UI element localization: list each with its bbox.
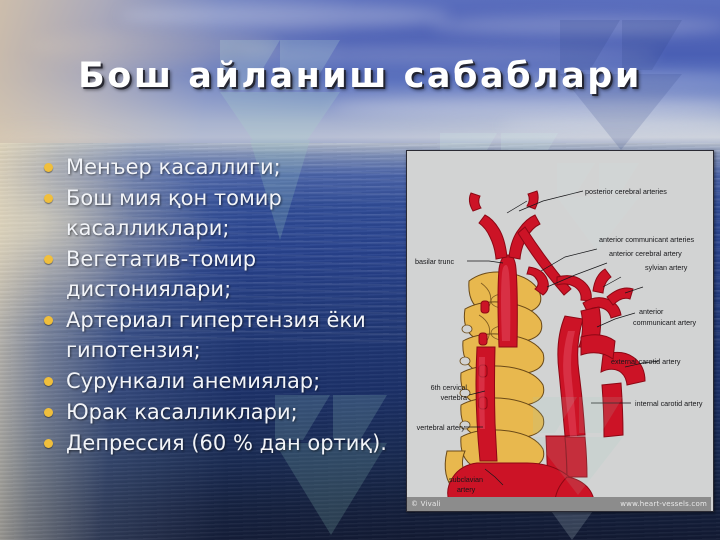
figure-label-artery: artery	[429, 485, 503, 494]
bullet-dot-icon	[44, 439, 53, 448]
bullet-list: Менъер касаллиги; Бош мия қон томир каса…	[38, 152, 390, 459]
list-item-label: Сурункали анемиялар;	[66, 366, 320, 396]
cerebral-artery-illustration	[407, 151, 711, 509]
cloud-band	[500, 118, 720, 132]
list-item: Депрессия (60 % дан ортиқ).	[38, 428, 390, 458]
figure-footer: © Vivali www.heart-vessels.com	[407, 497, 711, 511]
presentation-slide: Бош айланиш сабаблари Менъер касаллиги; …	[0, 0, 720, 540]
cloud-band	[330, 96, 720, 118]
figure-label-posterior-cerebral-arteries: posterior cerebral arteries	[585, 187, 667, 196]
cloud-band	[430, 16, 720, 36]
figure-label-subclavian: subclavian	[429, 475, 503, 484]
bullet-dot-icon	[44, 194, 53, 203]
bullet-dot-icon	[44, 316, 53, 325]
list-item: Артериал гипертензия ёки гипотензия;	[38, 305, 390, 365]
list-item-label: Депрессия (60 % дан ортиқ).	[66, 428, 387, 458]
figure-label-communicant-artery: communicant artery	[633, 318, 696, 327]
anatomy-figure: posterior cerebral arteries anterior com…	[406, 150, 714, 512]
figure-label-anterior: anterior	[639, 307, 663, 316]
figure-label-vertebra: vertebra	[407, 393, 467, 402]
figure-label-anterior-communicant-arteries: anterior communicant arteries	[599, 235, 694, 244]
bullet-dot-icon	[44, 377, 53, 386]
list-item-label: Юрак касалликлари;	[66, 397, 298, 427]
list-item: Вегетатив-томир дистониялари;	[38, 244, 390, 304]
figure-label-internal-carotid-artery: internal carotid artery	[635, 399, 703, 408]
figure-label-basilar-trunc: basilar trunc	[415, 257, 454, 266]
list-item-label: Бош мия қон томир касалликлари;	[66, 183, 390, 243]
figure-source-url: www.heart-vessels.com	[620, 500, 707, 508]
figure-label-anterior-cerebral-artery: anterior cerebral artery	[609, 249, 682, 258]
list-item: Бош мия қон томир касалликлари;	[38, 183, 390, 243]
figure-copyright: © Vivali	[411, 500, 441, 508]
figure-label-external-carotid-artery: external carotid artery	[611, 357, 681, 366]
bullet-dot-icon	[44, 408, 53, 417]
figure-label-6th-cervical: 6th cervical	[407, 383, 467, 392]
list-item-label: Артериал гипертензия ёки гипотензия;	[66, 305, 390, 365]
bullet-dot-icon	[44, 163, 53, 172]
cloud-band	[120, 4, 450, 28]
list-item-label: Менъер касаллиги;	[66, 152, 281, 182]
list-item: Менъер касаллиги;	[38, 152, 390, 182]
figure-label-sylvian-artery: sylvian artery	[645, 263, 687, 272]
list-item: Сурункали анемиялар;	[38, 366, 390, 396]
slide-title: Бош айланиш сабаблари	[0, 56, 720, 96]
list-item: Юрак касалликлари;	[38, 397, 390, 427]
list-item-label: Вегетатив-томир дистониялари;	[66, 244, 390, 304]
figure-label-vertebral-artery: vertebral artery	[407, 423, 465, 432]
bullet-dot-icon	[44, 255, 53, 264]
